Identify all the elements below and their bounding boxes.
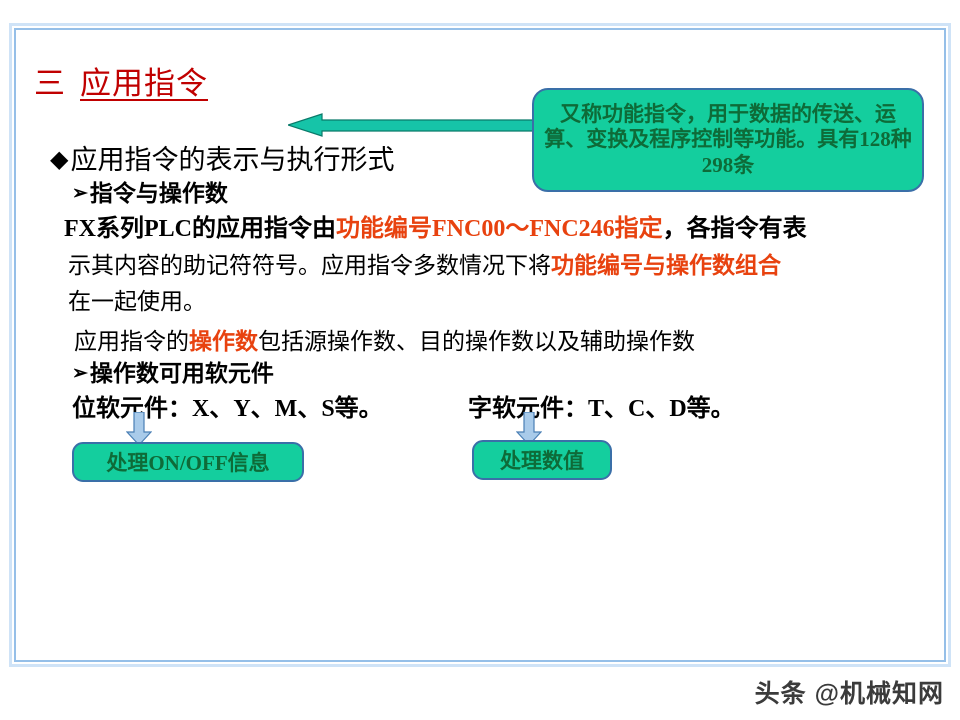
down-arrow-icon-left xyxy=(126,412,152,446)
page-title: 三应用指令 xyxy=(34,58,208,103)
p2-red: 操作数 xyxy=(189,329,258,354)
left-pointing-arrow-icon xyxy=(288,112,536,138)
result-box-value: 处理数值 xyxy=(472,440,612,480)
p1-l1-red: 功能编号FNC00～FNC246指定 xyxy=(336,216,663,242)
paragraph1-line1: FX系列PLC的应用指令由功能编号FNC00～FNC246指定，各指令有表 xyxy=(64,208,807,243)
callout-text: 又称功能指令，用于数据的传送、运算、变换及程序控制等功能。具有128种298条 xyxy=(534,102,922,179)
p1-l2-red: 功能编号与操作数组合 xyxy=(551,253,781,278)
triangle-bullet-icon: ➢ xyxy=(72,183,88,204)
word-devices-label: 字软元件：T、C、D等。 xyxy=(468,388,735,423)
outline-level2-label-instructions: 指令与操作数 xyxy=(90,181,228,206)
diamond-bullet-icon: ◆ xyxy=(50,147,68,173)
callout-box: 又称功能指令，用于数据的传送、运算、变换及程序控制等功能。具有128种298条 xyxy=(532,88,924,192)
outline-level1-label: 应用指令的表示与执行形式 xyxy=(70,145,394,175)
paragraph1-line3: 在一起使用。 xyxy=(68,282,206,316)
triangle-bullet-icon-2: ➢ xyxy=(72,363,88,384)
paragraph2-line: 应用指令的操作数包括源操作数、目的操作数以及辅助操作数 xyxy=(74,322,695,356)
page-title-number: 三 xyxy=(34,66,66,101)
page-title-heading: 应用指令 xyxy=(80,66,208,101)
result-box-onoff-label: 处理ON/OFF信息 xyxy=(106,447,269,477)
p1-l1-black-b: ，各指令有表 xyxy=(663,216,807,242)
paragraph1-line2: 示其内容的助记符符号。应用指令多数情况下将功能编号与操作数组合 xyxy=(68,246,781,280)
outline-level2-item-instructions: ➢指令与操作数 xyxy=(72,174,228,208)
result-box-value-label: 处理数值 xyxy=(500,445,584,475)
p2-black-b: 包括源操作数、目的操作数以及辅助操作数 xyxy=(258,329,695,354)
outline-level1-item: ◆应用指令的表示与执行形式 xyxy=(50,138,394,177)
p1-l3-black: 在一起使用。 xyxy=(68,289,206,314)
slide-canvas: 三应用指令 又称功能指令，用于数据的传送、运算、变换及程序控制等功能。具有128… xyxy=(16,30,944,660)
slide-frame: 三应用指令 又称功能指令，用于数据的传送、运算、变换及程序控制等功能。具有128… xyxy=(14,28,946,662)
p1-l1-black-a: FX系列PLC的应用指令由 xyxy=(64,216,336,242)
outline-level2-item-operands: ➢操作数可用软元件 xyxy=(72,354,274,388)
watermark: 头条 @机械知网 xyxy=(755,674,944,710)
p2-black-a: 应用指令的 xyxy=(74,329,189,354)
p1-l2-black-a: 示其内容的助记符符号。应用指令多数情况下将 xyxy=(68,253,551,278)
bit-devices-label: 位软元件：X、Y、M、S等。 xyxy=(72,388,383,423)
result-box-onoff: 处理ON/OFF信息 xyxy=(72,442,304,482)
outline-level2-label-operands: 操作数可用软元件 xyxy=(90,361,274,386)
